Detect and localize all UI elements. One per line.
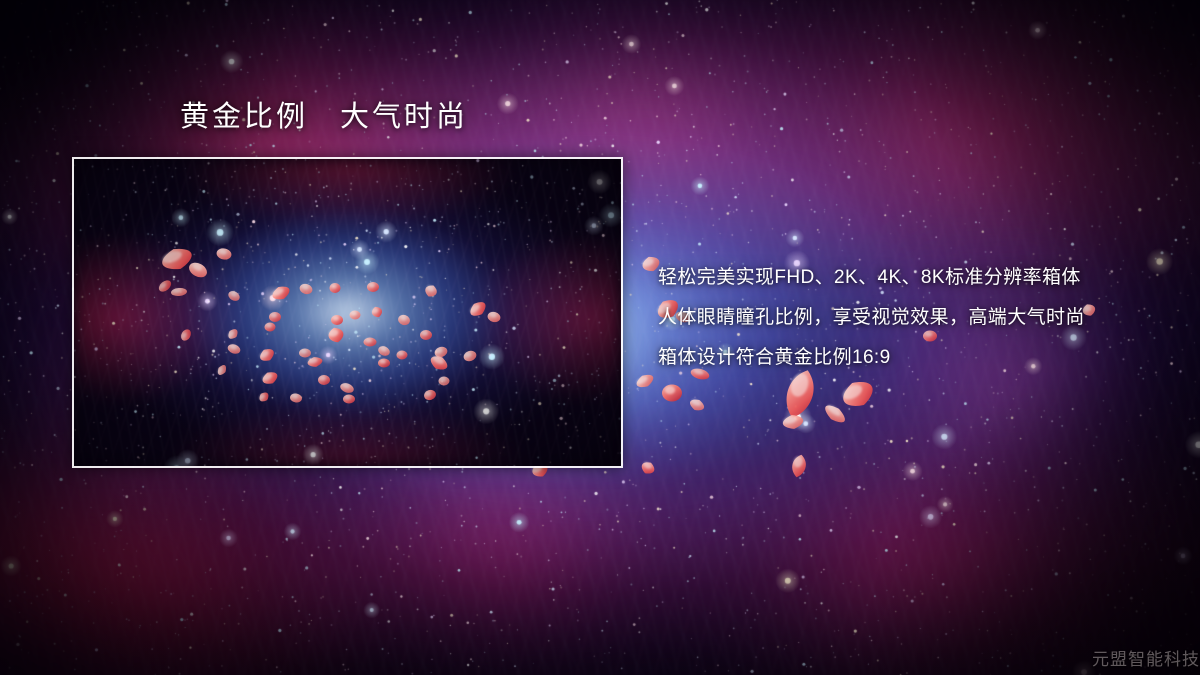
feature-line-1: 轻松完美实现FHD、2K、4K、8K标准分辨率箱体 — [658, 258, 1178, 298]
preview-image-inner — [74, 159, 621, 466]
slide-canvas: 黄金比例 大气时尚 轻松完美实现FHD、2K、4K、8K标准分辨率箱体 人体眼睛… — [0, 0, 1200, 675]
brand-watermark: 元盟智能科技 — [1092, 645, 1200, 670]
feature-line-2: 人体眼睛瞳孔比例，享受视觉效果，高端大气时尚 — [658, 298, 1178, 338]
feature-line-3: 箱体设计符合黄金比例16:9 — [658, 338, 1178, 378]
preview-vignette — [74, 159, 621, 466]
feature-description: 轻松完美实现FHD、2K、4K、8K标准分辨率箱体 人体眼睛瞳孔比例，享受视觉效… — [658, 258, 1178, 378]
page-title: 黄金比例 大气时尚 — [180, 100, 468, 135]
preview-image-frame[interactable] — [72, 157, 623, 468]
